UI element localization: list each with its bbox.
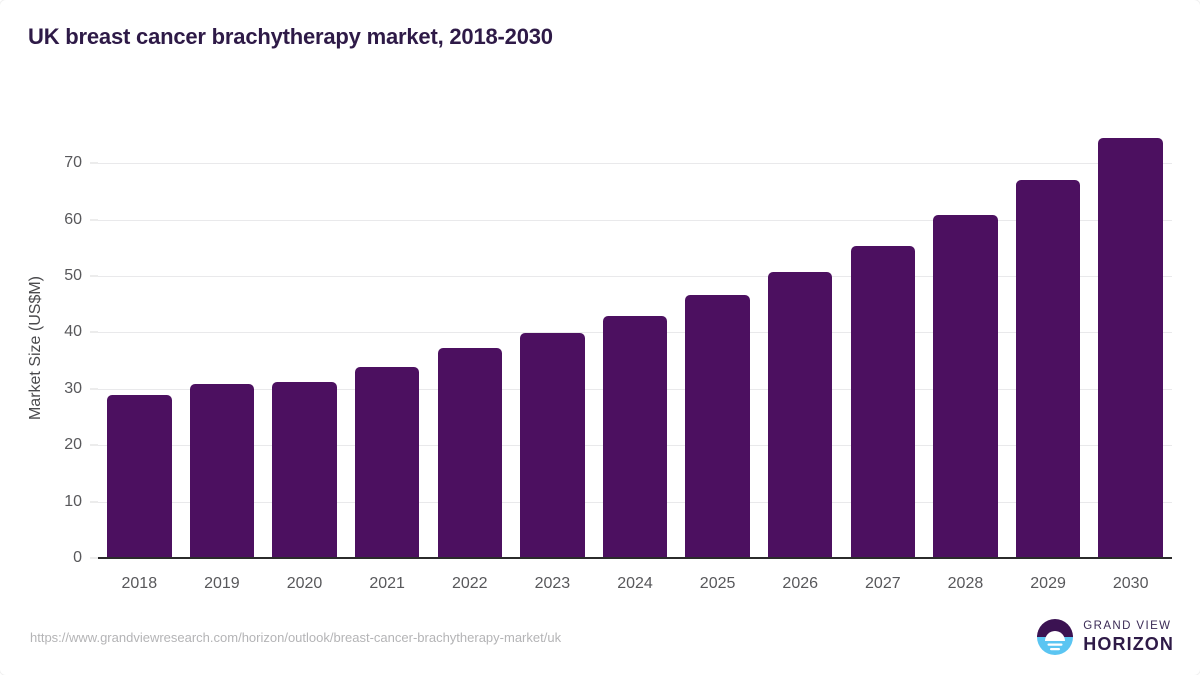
y-tick-mark [90,163,98,164]
x-tick-label: 2018 [122,575,158,593]
brand-line-grand-view: GRAND VIEW [1083,621,1174,633]
x-tick-label: 2021 [369,575,405,593]
bar-group: 2022 [428,138,511,558]
plot-area: 010203040506070 201820192020202120222023… [98,138,1172,558]
x-tick-label: 2020 [287,575,323,593]
bar-group: 2019 [181,138,264,558]
y-axis-title: Market Size (US$M) [27,276,45,420]
bar[interactable] [685,295,749,558]
y-tick-mark [90,388,98,389]
y-tick-label: 10 [64,493,82,511]
bar-group: 2021 [346,138,429,558]
y-tick-label: 0 [73,549,82,567]
x-tick-label: 2028 [948,575,984,593]
bar[interactable] [355,367,419,558]
page-title: UK breast cancer brachytherapy market, 2… [28,24,553,50]
bar-group: 2029 [1007,138,1090,558]
x-tick-label: 2023 [535,575,571,593]
x-tick-label: 2019 [204,575,240,593]
brand-line-horizon: HORIZON [1083,635,1174,653]
x-tick-label: 2030 [1113,575,1149,593]
bar-group: 2020 [263,138,346,558]
y-tick-mark [90,501,98,502]
bar[interactable] [851,246,915,558]
source-url[interactable]: https://www.grandviewresearch.com/horizo… [30,630,561,645]
bar[interactable] [520,333,584,558]
x-axis-line [98,557,1172,559]
bar-group: 2025 [676,138,759,558]
y-tick-mark [90,558,98,559]
brand-logo[interactable]: GRAND VIEW HORIZON [1036,618,1174,656]
bar-group: 2026 [759,138,842,558]
y-tick-mark [90,276,98,277]
y-tick-label: 40 [64,323,82,341]
bar[interactable] [1016,180,1080,558]
y-tick-mark [90,445,98,446]
x-tick-label: 2022 [452,575,488,593]
bar-group: 2028 [924,138,1007,558]
bar[interactable] [438,348,502,558]
chart-page: UK breast cancer brachytherapy market, 2… [0,0,1200,675]
bar[interactable] [768,272,832,558]
bar[interactable] [933,215,997,558]
bar[interactable] [107,395,171,558]
bar-group: 2027 [842,138,925,558]
y-tick-mark [90,219,98,220]
bar[interactable] [190,384,254,558]
bar-group: 2023 [511,138,594,558]
y-tick-mark [90,332,98,333]
bar[interactable] [1098,138,1162,558]
bar[interactable] [272,382,336,558]
x-tick-label: 2026 [782,575,818,593]
horizon-logo-icon [1036,618,1074,656]
y-tick-label: 60 [64,211,82,229]
y-tick-label: 30 [64,380,82,398]
y-tick-label: 50 [64,267,82,285]
bar-group: 2018 [98,138,181,558]
x-tick-label: 2029 [1030,575,1066,593]
x-tick-label: 2024 [617,575,653,593]
y-tick-label: 70 [64,154,82,172]
x-tick-label: 2025 [700,575,736,593]
x-tick-label: 2027 [865,575,901,593]
y-tick-label: 20 [64,436,82,454]
bar-group: 2030 [1089,138,1172,558]
bar[interactable] [603,316,667,558]
brand-wordmark: GRAND VIEW HORIZON [1083,621,1174,654]
bar-group: 2024 [594,138,677,558]
